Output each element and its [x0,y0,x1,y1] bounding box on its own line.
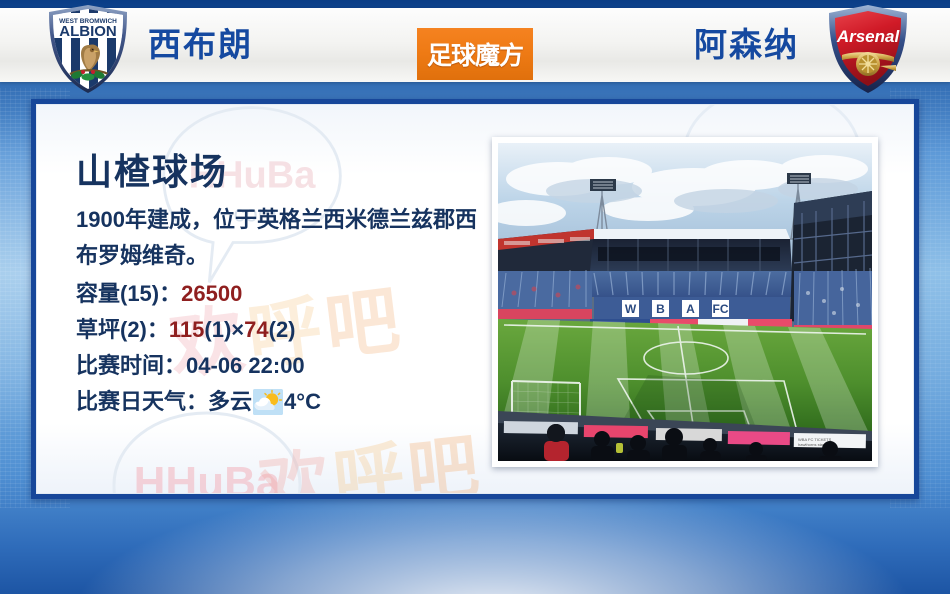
capacity-row: 容量(15)：26500 [76,276,496,312]
stadium-photo-frame[interactable]: W B A FC [492,137,878,467]
stadium-info-card: HHuBa .com HHuBa .com HHuBa .com 欢呼吧 欢呼吧 [31,99,919,499]
watermark-text: HHuBa [134,458,281,494]
stadium-photo: W B A FC [498,143,872,461]
pitch-size-separator: × [231,317,244,342]
svg-text:W: W [625,302,637,316]
arsenal-wordmark: Arsenal [836,27,901,46]
match-time-row: 比赛时间：04-06 22:00 [76,348,496,384]
capacity-label: 容量(15)： [76,281,181,306]
site-logo[interactable]: 足球魔方 [417,28,533,80]
watermark-brand-char: 吧 [404,426,487,494]
svg-text:B: B [656,302,665,316]
badge-text-main: ALBION [59,23,117,40]
capacity-value: 26500 [181,281,242,306]
pitch-size-row: 草坪(2)：115(1)×74(2) [76,312,496,348]
arsenal-badge[interactable]: Arsenal [822,2,914,98]
weather-temperature: 4°C [284,389,321,414]
watermark-brand-char: 欢 [255,442,338,494]
page-title: 山楂球场 [76,150,496,194]
stadium-info-screen: WEST BROMWICH ALBION [0,0,950,594]
home-team-name: 西布朗 [148,24,253,66]
pitch-width-value: 74 [244,317,268,342]
svg-text:A: A [686,302,695,316]
match-time-label: 比赛时间： [76,353,186,378]
watermark-brand-char: 呼 [330,434,413,494]
stadium-info-card-body: HHuBa .com HHuBa .com HHuBa .com 欢呼吧 欢呼吧 [36,104,914,494]
match-time-value: 04-06 22:00 [186,353,305,378]
svg-text:FC: FC [713,302,729,316]
sun-behind-cloud-icon [253,389,283,415]
pitch-width-rank: (2) [269,317,296,342]
away-team-name: 阿森纳 [694,24,799,66]
weather-condition: 多云 [208,389,252,414]
watermark-brand: 欢呼吧 [256,430,487,494]
pitch-length-rank: (1) [204,317,231,342]
match-header-inner: WEST BROMWICH ALBION [0,8,950,82]
stadium-details: 山楂球场 1900年建成，位于英格兰西米德兰兹郡西布罗姆维奇。 容量(15)：2… [76,150,496,420]
pitch-length-value: 115 [169,317,205,342]
west-bromwich-albion-badge[interactable]: WEST BROMWICH ALBION [42,2,134,98]
pitch-size-label: 草坪(2)： [76,317,169,342]
site-logo-text: 足球魔方 [417,28,533,80]
match-weather-row: 比赛日天气：多云 [76,384,496,420]
match-header-bar: WEST BROMWICH ALBION [0,8,950,82]
match-weather-label: 比赛日天气： [76,389,208,414]
stadium-description: 1900年建成，位于英格兰西米德兰兹郡西布罗姆维奇。 [76,202,486,274]
